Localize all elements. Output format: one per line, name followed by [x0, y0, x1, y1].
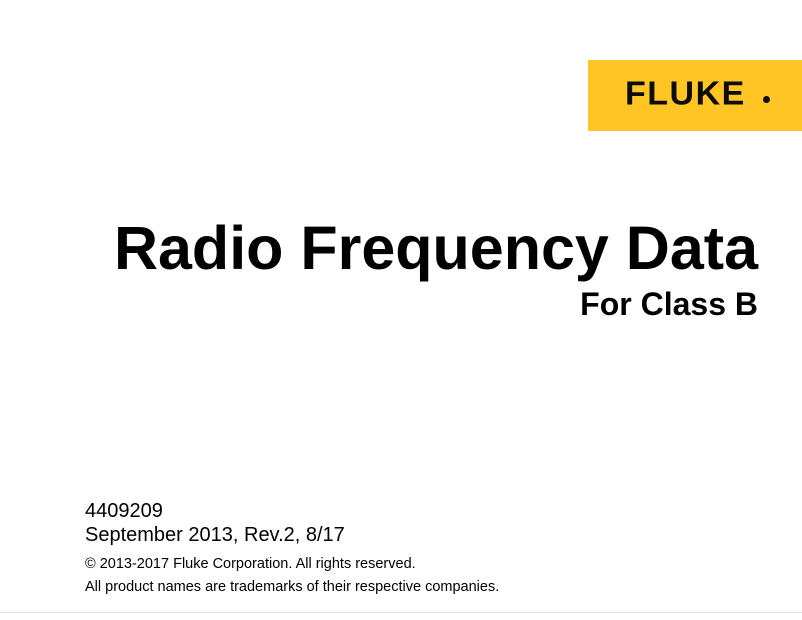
fluke-logo: FLUKE — [588, 60, 802, 131]
footer-divider — [0, 612, 802, 613]
fluke-wordmark-text: FLUKE — [625, 77, 746, 110]
part-number: 4409209 — [85, 499, 725, 523]
imprint-block: 4409209 September 2013, Rev.2, 8/17 © 20… — [85, 499, 725, 599]
page-subtitle: For Class B — [0, 286, 758, 322]
revision-date: September 2013, Rev.2, 8/17 — [85, 523, 725, 547]
trademark-notice: All product names are trademarks of thei… — [85, 576, 725, 599]
copyright-notice: © 2013-2017 Fluke Corporation. All right… — [85, 553, 725, 576]
registered-trademark-icon — [763, 96, 770, 103]
page-title: Radio Frequency Data — [0, 215, 758, 281]
document-page: FLUKE Radio Frequency Data For Class B 4… — [0, 0, 802, 620]
